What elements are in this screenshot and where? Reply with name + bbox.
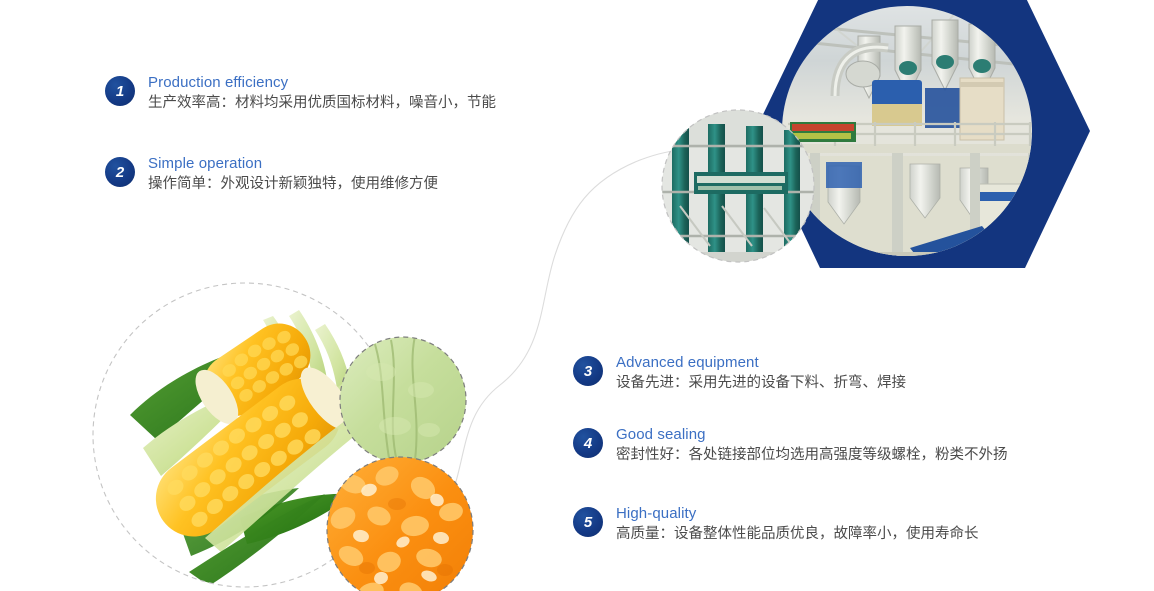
feature-description-3: 设备先进：采用先进的设备下料、折弯、焊接 [616, 374, 906, 393]
feature-item-1[interactable]: 1 Production efficiency 生产效率高：材料均采用优质国标材… [105, 74, 496, 113]
feature-number-badge-4: 4 [573, 428, 603, 458]
feature-title-1: Production efficiency [148, 74, 496, 92]
feature-title-3: Advanced equipment [616, 354, 906, 372]
feature-item-3[interactable]: 3 Advanced equipment 设备先进：采用先进的设备下料、折弯、焊… [573, 354, 906, 393]
feature-description-5: 高质量：设备整体性能品质优良，故障率小，使用寿命长 [616, 525, 979, 544]
feature-text-3: Advanced equipment 设备先进：采用先进的设备下料、折弯、焊接 [616, 354, 906, 393]
hexagon-photo-frame [660, 0, 1154, 276]
feature-text-5: High-quality 高质量：设备整体性能品质优良，故障率小，使用寿命长 [616, 505, 979, 544]
feature-item-5[interactable]: 5 High-quality 高质量：设备整体性能品质优良，故障率小，使用寿命长 [573, 505, 979, 544]
corn-product-circles [85, 280, 485, 591]
feature-number-badge-5: 5 [573, 507, 603, 537]
feature-number-badge-2: 2 [105, 157, 135, 187]
feature-text-4: Good sealing 密封性好：各处链接部位均选用高强度等级螺栓，粉类不外扬 [616, 426, 1008, 465]
feature-description-4: 密封性好：各处链接部位均选用高强度等级螺栓，粉类不外扬 [616, 446, 1008, 465]
feature-item-2[interactable]: 2 Simple operation 操作简单：外观设计新颖独特，使用维修方便 [105, 155, 438, 194]
feature-description-2: 操作简单：外观设计新颖独特，使用维修方便 [148, 175, 438, 194]
feature-description-1: 生产效率高：材料均采用优质国标材料，噪音小，节能 [148, 94, 496, 113]
feature-highlight-page: 1 Production efficiency 生产效率高：材料均采用优质国标材… [0, 0, 1154, 591]
feature-number-badge-1: 1 [105, 76, 135, 106]
feature-number-badge-3: 3 [573, 356, 603, 386]
feature-title-4: Good sealing [616, 426, 1008, 444]
feature-text-2: Simple operation 操作简单：外观设计新颖独特，使用维修方便 [148, 155, 438, 194]
feature-text-1: Production efficiency 生产效率高：材料均采用优质国标材料，… [148, 74, 496, 113]
feature-item-4[interactable]: 4 Good sealing 密封性好：各处链接部位均选用高强度等级螺栓，粉类不… [573, 426, 1008, 465]
feature-title-5: High-quality [616, 505, 979, 523]
feature-title-2: Simple operation [148, 155, 438, 173]
